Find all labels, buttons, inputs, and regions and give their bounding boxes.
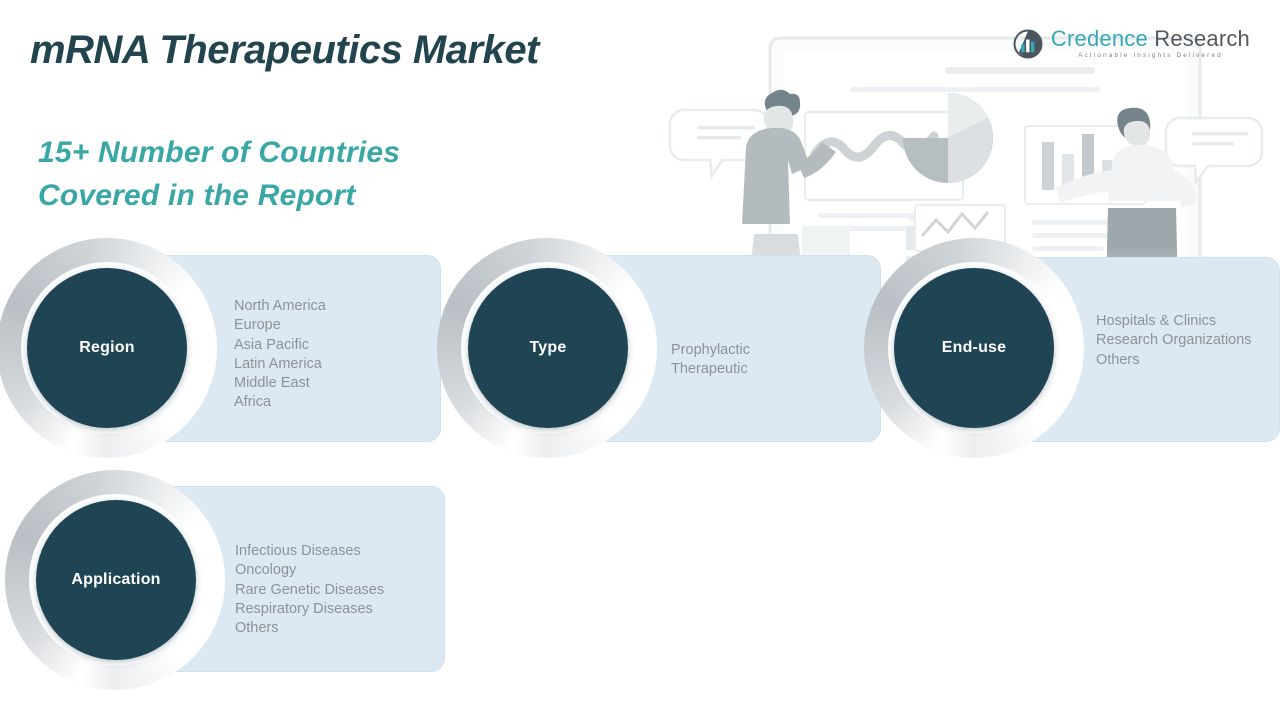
- slide-canvas: mRNA Therapeutics Market 15+ Number of C…: [0, 0, 1280, 720]
- line-chart-icon: [805, 112, 963, 200]
- logo-tagline: Actionable Insights Delivered: [1051, 53, 1250, 60]
- page-subtitle-line-1: 15+ Number of Countries: [38, 131, 400, 174]
- bar-chart-circle-icon: [1013, 29, 1043, 59]
- card-label-bubble-type[interactable]: Type: [468, 268, 628, 428]
- pie-chart-icon: [903, 93, 993, 183]
- speech-bubble-icon: [1166, 118, 1262, 182]
- card-item-list-type: Prophylactic Therapeutic: [671, 341, 871, 380]
- logo-name-part-2: Research: [1148, 26, 1250, 51]
- logo-name: Credence Research: [1051, 26, 1250, 51]
- board-line: [850, 87, 1100, 92]
- card-label-bubble-enduse[interactable]: End-use: [894, 268, 1054, 428]
- card-item-list-application: Infectious Diseases Oncology Rare Geneti…: [235, 542, 455, 638]
- logo-text: Credence Research Actionable Insights De…: [1051, 28, 1250, 60]
- logo-name-part-1: Credence: [1051, 26, 1148, 51]
- page-subtitle: 15+ Number of Countries Covered in the R…: [38, 131, 400, 217]
- card-label-bubble-region[interactable]: Region: [27, 268, 187, 428]
- page-subtitle-line-2: Covered in the Report: [38, 174, 400, 217]
- card-item-list-enduse: Hospitals & Clinics Research Organizatio…: [1096, 312, 1276, 370]
- speech-bubble-icon: [670, 110, 768, 176]
- board-line: [945, 67, 1095, 74]
- card-label-bubble-application[interactable]: Application: [36, 500, 196, 660]
- bar-chart-icon: [1025, 126, 1145, 204]
- card-item-list-region: North America Europe Asia Pacific Latin …: [234, 297, 434, 413]
- page-title: mRNA Therapeutics Market: [30, 28, 539, 73]
- brand-logo[interactable]: Credence Research Actionable Insights De…: [1013, 28, 1250, 60]
